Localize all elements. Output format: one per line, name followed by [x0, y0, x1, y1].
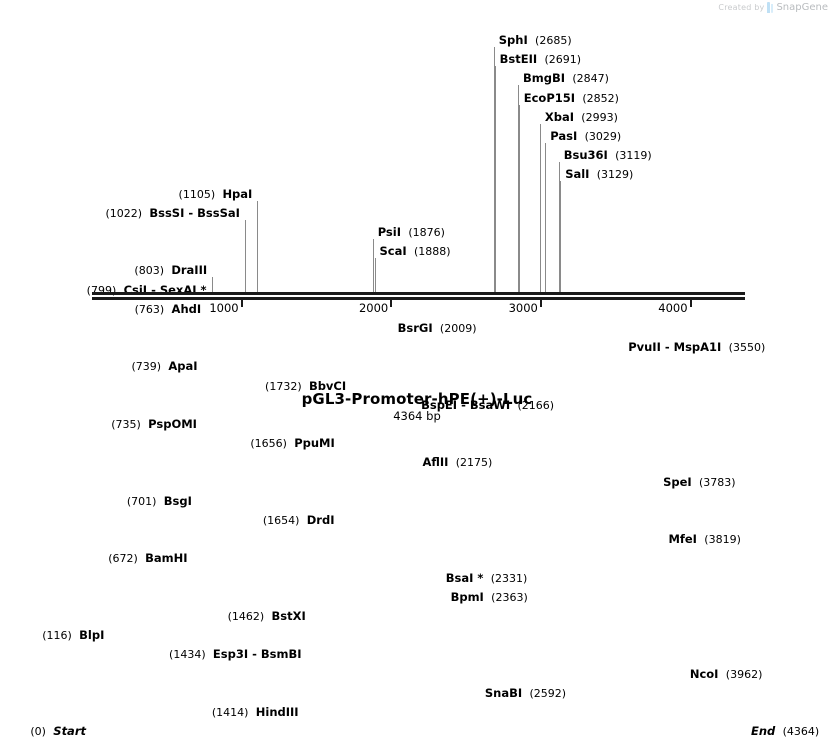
leader-line	[375, 258, 376, 292]
restriction-site-label[interactable]: PasI (3029)	[550, 130, 621, 143]
plasmid-linear-map: Created by SnapGene SphI (2685)BstEII (2…	[0, 0, 834, 430]
site-enzyme-name: ScaI	[380, 244, 407, 258]
restriction-site-label[interactable]: (763) AhdI	[135, 303, 202, 316]
restriction-site-label[interactable]: (1414) HindIII	[212, 706, 299, 719]
site-enzyme-name: AhdI	[172, 302, 202, 316]
leader-line	[540, 124, 541, 292]
site-position: (2685)	[535, 34, 572, 47]
ruler-line-bottom	[92, 297, 745, 300]
restriction-site-label[interactable]: (672) BamHI	[108, 552, 187, 565]
site-position: (1105)	[179, 188, 216, 201]
site-enzyme-name: SalI	[565, 167, 589, 181]
site-enzyme-name: PpuMI	[294, 436, 335, 450]
ruler-tick-label: 4000	[654, 301, 688, 315]
leader-line	[519, 105, 520, 292]
site-position: (3119)	[615, 149, 652, 162]
restriction-site-label[interactable]: ScaI (1888)	[380, 245, 451, 258]
restriction-site-label[interactable]: SnaBI (2592)	[485, 687, 566, 700]
site-position: (3129)	[597, 168, 634, 181]
ruler-tick	[241, 300, 243, 307]
end-position: (4364)	[783, 725, 820, 738]
site-position: (2993)	[581, 111, 618, 124]
restriction-site-label[interactable]: AflII (2175)	[422, 456, 492, 469]
snapgene-logo-icon	[767, 2, 773, 13]
restriction-site-label[interactable]: Bsu36I (3119)	[564, 149, 652, 162]
site-position: (2175)	[456, 456, 493, 469]
site-position: (701)	[127, 495, 157, 508]
site-position: (2592)	[529, 687, 566, 700]
site-position: (3783)	[699, 476, 736, 489]
site-position: (763)	[135, 303, 165, 316]
site-enzyme-name: BsaI *	[446, 571, 484, 585]
site-position: (1888)	[414, 245, 451, 258]
start-name: Start	[53, 724, 86, 738]
site-enzyme-name: SphI	[499, 33, 528, 47]
ruler-tick	[690, 300, 692, 307]
site-position: (3029)	[585, 130, 622, 143]
site-position: (1656)	[250, 437, 287, 450]
leader-line	[495, 66, 496, 292]
ruler-tick-label: 2000	[354, 301, 388, 315]
ruler-tick	[540, 300, 542, 307]
site-position: (1434)	[169, 648, 206, 661]
site-enzyme-name: PasI	[550, 129, 577, 143]
restriction-site-label[interactable]: (1656) PpuMI	[250, 437, 334, 450]
restriction-site-label[interactable]: PsiI (1876)	[378, 226, 445, 239]
restriction-site-label[interactable]: PvuII - MspA1I (3550)	[628, 341, 765, 354]
site-enzyme-name: SpeI	[663, 475, 692, 489]
end-name: End	[751, 724, 775, 738]
restriction-site-label[interactable]: NcoI (3962)	[690, 668, 763, 681]
site-position: (2363)	[491, 591, 528, 604]
site-position: (3550)	[729, 341, 766, 354]
site-enzyme-name: HpaI	[222, 187, 252, 201]
sequence-end-label[interactable]: End (4364)	[751, 725, 819, 738]
site-enzyme-name: BstXI	[271, 609, 305, 623]
site-enzyme-name: SnaBI	[485, 686, 522, 700]
restriction-site-label[interactable]: SpeI (3783)	[663, 476, 735, 489]
site-enzyme-name: AflII	[422, 455, 448, 469]
site-enzyme-name: BsrGI	[398, 321, 433, 335]
site-position: (2847)	[572, 72, 609, 85]
ruler-line-top	[92, 292, 745, 295]
site-enzyme-name: HindIII	[256, 705, 299, 719]
ruler-tick	[390, 300, 392, 307]
site-position: (1414)	[212, 706, 249, 719]
restriction-site-label[interactable]: (1434) Esp3I - BsmBI	[169, 648, 302, 661]
leader-line	[257, 201, 258, 292]
restriction-site-label[interactable]: (739) ApaI	[132, 360, 198, 373]
site-enzyme-name: DrdI	[307, 513, 335, 527]
leader-line	[560, 181, 561, 292]
site-enzyme-name: BpmI	[451, 590, 484, 604]
restriction-site-label[interactable]: EcoP15I (2852)	[524, 92, 619, 105]
site-position: (3962)	[726, 668, 763, 681]
site-enzyme-name: Bsu36I	[564, 148, 608, 162]
site-position: (803)	[134, 264, 164, 277]
restriction-site-label[interactable]: (1654) DrdI	[263, 514, 335, 527]
restriction-site-label[interactable]: MfeI (3819)	[668, 533, 740, 546]
site-enzyme-name: BlpI	[79, 628, 104, 642]
restriction-site-label[interactable]: BstEII (2691)	[500, 53, 581, 66]
restriction-site-label[interactable]: BsrGI (2009)	[398, 322, 477, 335]
site-position: (2691)	[545, 53, 582, 66]
restriction-site-label[interactable]: BpmI (2363)	[451, 591, 528, 604]
site-enzyme-name: MfeI	[668, 532, 697, 546]
restriction-site-label[interactable]: (1105) HpaI	[179, 188, 253, 201]
page-title: pGL3-Promoter-hPE(+)-Luc	[0, 390, 834, 408]
site-enzyme-name: PvuII - MspA1I	[628, 340, 721, 354]
site-position: (1876)	[408, 226, 445, 239]
restriction-site-label[interactable]: BsaI * (2331)	[446, 572, 528, 585]
snapgene-watermark: Created by SnapGene	[718, 2, 828, 13]
restriction-site-label[interactable]: SphI (2685)	[499, 34, 572, 47]
site-position: (1654)	[263, 514, 300, 527]
site-enzyme-name: BsgI	[164, 494, 192, 508]
plasmid-length: 4364 bp	[0, 409, 834, 423]
site-enzyme-name: DraIII	[171, 263, 207, 277]
restriction-site-label[interactable]: (1462) BstXI	[228, 610, 306, 623]
start-position: (0)	[30, 725, 46, 738]
watermark-prefix: Created by	[718, 3, 764, 12]
site-enzyme-name: XbaI	[545, 110, 574, 124]
ruler-tick-label: 1000	[205, 301, 239, 315]
restriction-site-label[interactable]: (116) BlpI	[42, 629, 104, 642]
site-enzyme-name: BamHI	[145, 551, 187, 565]
leader-line	[545, 143, 546, 292]
site-enzyme-name: PsiI	[378, 225, 401, 239]
watermark-brand: SnapGene	[776, 2, 828, 13]
site-enzyme-name: NcoI	[690, 667, 719, 681]
site-position: (3819)	[704, 533, 741, 546]
restriction-site-label[interactable]: SalI (3129)	[565, 168, 633, 181]
sequence-start-label[interactable]: (0) Start	[30, 725, 86, 738]
ruler-tick-label: 3000	[504, 301, 538, 315]
restriction-site-label[interactable]: BmgBI (2847)	[523, 72, 609, 85]
site-position: (116)	[42, 629, 72, 642]
site-position: (2852)	[582, 92, 619, 105]
site-enzyme-name: BssSI - BssSaI	[149, 206, 240, 220]
site-position: (1022)	[105, 207, 142, 220]
site-enzyme-name: EcoP15I	[524, 91, 575, 105]
site-position: (1462)	[228, 610, 265, 623]
site-position: (739)	[132, 360, 162, 373]
site-enzyme-name: BmgBI	[523, 71, 565, 85]
site-enzyme-name: ApaI	[168, 359, 197, 373]
site-position: (672)	[108, 552, 138, 565]
leader-line	[245, 220, 246, 292]
site-enzyme-name: Esp3I - BsmBI	[213, 647, 302, 661]
leader-line	[212, 277, 213, 292]
restriction-site-label[interactable]: (701) BsgI	[127, 495, 192, 508]
restriction-site-label[interactable]: (1022) BssSI - BssSaI	[105, 207, 239, 220]
site-position: (2331)	[491, 572, 528, 585]
site-enzyme-name: BstEII	[500, 52, 538, 66]
restriction-site-label[interactable]: XbaI (2993)	[545, 111, 618, 124]
restriction-site-label[interactable]: (803) DraIII	[134, 264, 207, 277]
site-position: (2009)	[440, 322, 477, 335]
